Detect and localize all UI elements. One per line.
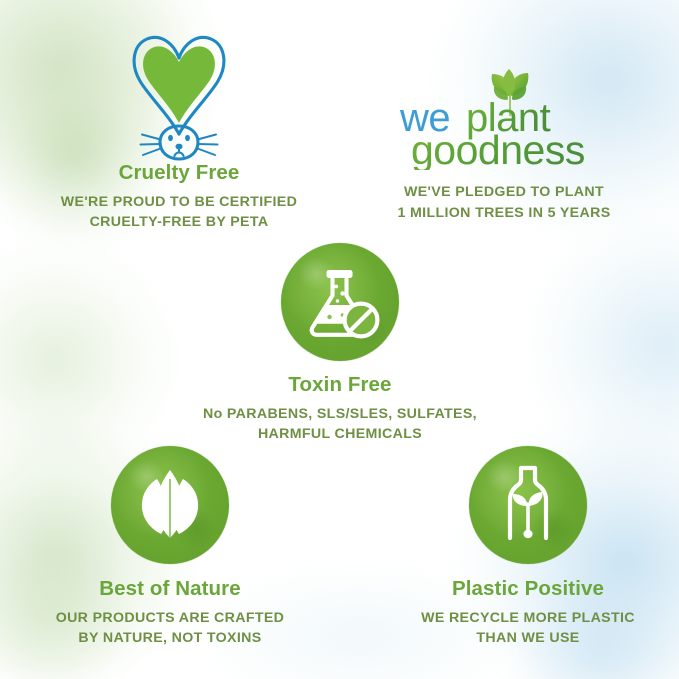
- toxin-free-badge: [281, 243, 399, 361]
- plastic-positive-badge: [469, 446, 587, 564]
- card-desc-cruelty-free: WE'RE PROUD TO BE CERTIFIED CRUELTY-FREE…: [24, 192, 334, 233]
- card-we-plant-goodness: we plant goodness WE'VE PLEDGED TO PLANT…: [348, 58, 660, 223]
- flask-prohibited-icon: [281, 243, 399, 361]
- card-desc-line: WE'VE PLEDGED TO PLANT: [348, 182, 660, 203]
- best-of-nature-badge: [111, 446, 229, 564]
- card-best-of-nature: Best of Nature OUR PRODUCTS ARE CRAFTED …: [15, 446, 325, 649]
- svg-text:goodness: goodness: [411, 127, 585, 170]
- card-desc-line: BY NATURE, NOT TOXINS: [15, 628, 325, 649]
- card-title-plastic-positive: Plastic Positive: [373, 578, 679, 601]
- card-desc-line: WE'RE PROUD TO BE CERTIFIED: [24, 192, 334, 213]
- three-leaves-icon: [111, 446, 229, 564]
- card-desc-line: No PARABENS, SLS/SLES, SULFATES,: [185, 404, 495, 425]
- card-desc-line: OUR PRODUCTS ARE CRAFTED: [15, 608, 325, 629]
- card-desc-line: 1 MILLION TREES IN 5 YEARS: [348, 203, 660, 224]
- card-desc-line: CRUELTY-FREE BY PETA: [24, 212, 334, 233]
- card-desc-toxin-free: No PARABENS, SLS/SLES, SULFATES, HARMFUL…: [185, 404, 495, 445]
- card-desc-best-of-nature: OUR PRODUCTS ARE CRAFTED BY NATURE, NOT …: [15, 608, 325, 649]
- card-cruelty-free: Cruelty Free WE'RE PROUD TO BE CERTIFIED…: [24, 22, 334, 233]
- card-title-cruelty-free: Cruelty Free: [24, 162, 334, 185]
- card-desc-line: HARMFUL CHEMICALS: [185, 424, 495, 445]
- card-plastic-positive: Plastic Positive WE RECYCLE MORE PLASTIC…: [373, 446, 679, 649]
- card-title-toxin-free: Toxin Free: [185, 374, 495, 397]
- card-title-best-of-nature: Best of Nature: [15, 578, 325, 601]
- card-toxin-free: Toxin Free No PARABENS, SLS/SLES, SULFAT…: [185, 243, 495, 445]
- peta-bunny-heart-icon: [115, 22, 243, 162]
- we-plant-goodness-logo: we plant goodness: [397, 58, 612, 170]
- card-desc-line: THAN WE USE: [373, 628, 679, 649]
- card-desc-we-plant-goodness: WE'VE PLEDGED TO PLANT 1 MILLION TREES I…: [348, 182, 660, 223]
- bottle-sprout-icon: [469, 446, 587, 564]
- card-desc-line: WE RECYCLE MORE PLASTIC: [373, 608, 679, 629]
- infographic-canvas: Cruelty Free WE'RE PROUD TO BE CERTIFIED…: [0, 0, 679, 679]
- card-desc-plastic-positive: WE RECYCLE MORE PLASTIC THAN WE USE: [373, 608, 679, 649]
